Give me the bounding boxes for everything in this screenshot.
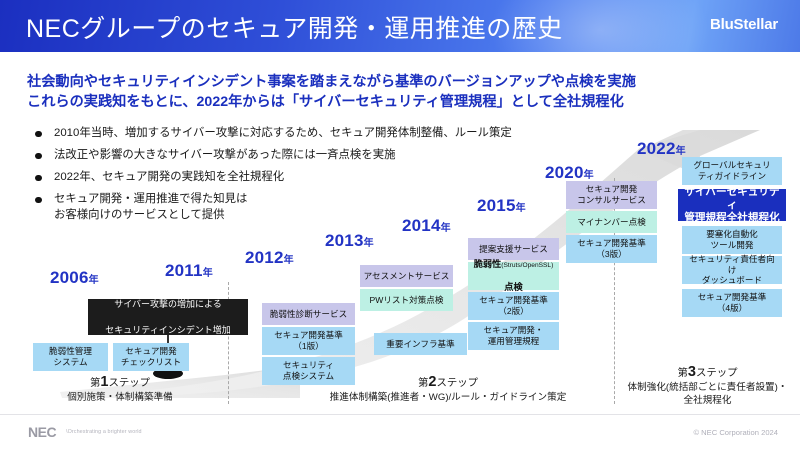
step-description: 推進体制構築(推進者・WG)/ルール・ガイドライン策定 <box>288 391 608 404</box>
item-secure-dev-std-v3[interactable]: セキュア開発基準 （3版） <box>566 235 657 263</box>
year-label-2014: 2014年 <box>402 216 451 236</box>
item-secure-dev-std-v1[interactable]: セキュア開発基準 （1版） <box>262 327 355 355</box>
year-suffix: 年 <box>584 170 594 181</box>
year-value: 2012 <box>245 248 284 267</box>
step-suffix: ステップ <box>696 368 738 379</box>
step-prefix: 第 <box>418 378 428 389</box>
step-number: 3 <box>688 364 696 380</box>
year-suffix: 年 <box>203 268 213 279</box>
step-label-1: 第1ステップ 個別施策・体制構築準備 <box>20 375 220 404</box>
page-title: NECグループのセキュア開発・運用推進の歴史 <box>26 9 563 45</box>
year-suffix: 年 <box>89 275 99 286</box>
year-label-2012: 2012年 <box>245 248 294 268</box>
brand-logo-blustellar: BluStellar <box>710 16 778 33</box>
item-pw-list-check[interactable]: PWリスト対策点検 <box>360 289 453 311</box>
slide-root: NECグループのセキュア開発・運用推進の歴史 BluStellar 社会動向やセ… <box>0 0 800 450</box>
year-value: 2020 <box>545 163 584 182</box>
footer-divider <box>0 414 800 415</box>
year-label-2013: 2013年 <box>325 231 374 251</box>
item-secure-dev-checklist[interactable]: セキュア開発 チェックリスト <box>113 343 189 371</box>
year-label-2011: 2011年 <box>165 261 213 281</box>
item-hardening-auto-tool[interactable]: 要塞化自動化 ツール開発 <box>682 226 782 254</box>
year-value: 2013 <box>325 231 364 250</box>
item-vuln-diag-service[interactable]: 脆弱性診断サービス <box>262 303 355 325</box>
copyright-notice: © NEC Corporation 2024 <box>693 428 778 437</box>
year-value: 2022 <box>637 139 676 158</box>
step-label-2: 第2ステップ 推進体制構築(推進者・WG)/ルール・ガイドライン策定 <box>288 375 608 404</box>
item-assessment-service[interactable]: アセスメントサービス <box>360 265 453 287</box>
year-suffix: 年 <box>284 255 294 266</box>
step-title: 第3ステップ <box>620 365 795 381</box>
year-suffix: 年 <box>516 203 526 214</box>
nec-tagline: \Orchestrating a brighter world <box>66 429 142 435</box>
step-description: 個別施策・体制構築準備 <box>20 391 220 404</box>
year-label-2022: 2022年 <box>637 139 686 159</box>
step-prefix: 第 <box>677 368 687 379</box>
year-suffix: 年 <box>441 223 451 234</box>
year-label-2020: 2020年 <box>545 163 594 183</box>
callout-cyber-attack-increase: サイバー攻撃の増加による セキュリティインシデント増加 <box>88 299 248 335</box>
callout-line-1: サイバー攻撃の増加による <box>105 298 230 311</box>
slide-header: NECグループのセキュア開発・運用推進の歴史 BluStellar <box>0 0 800 52</box>
nec-logo: NEC <box>28 424 56 440</box>
item-secure-dev-ops-rules[interactable]: セキュア開発・ 運用管理規程 <box>468 322 559 350</box>
year-suffix: 年 <box>676 146 686 157</box>
lead-text: 社会動向やセキュリティインシデント事案を踏まえながら基準のバージョンアップや点検… <box>27 72 767 112</box>
year-label-2006: 2006年 <box>50 268 99 288</box>
item-secure-dev-std-v2[interactable]: セキュア開発基準 （2版） <box>468 292 559 320</box>
item-critical-infra-std[interactable]: 重要インフラ基準 <box>374 333 467 355</box>
step-description-line2: 全社規程化 <box>620 394 795 407</box>
item-security-owner-dashboard[interactable]: セキュリティ責任者向け ダッシュボード <box>682 256 782 284</box>
year-label-2015: 2015年 <box>477 196 526 216</box>
year-value: 2015 <box>477 196 516 215</box>
item-global-security-guide[interactable]: グローバルセキュリ ティガイドライン <box>682 157 782 185</box>
year-value: 2011 <box>165 261 203 280</box>
step-title: 第1ステップ <box>20 375 220 391</box>
item-vuln-struts-openssl[interactable]: 脆弱性(Struts/OpenSSL) 点検 <box>468 262 559 290</box>
item-secure-dev-std-v4[interactable]: セキュア開発基準 （4版） <box>682 289 782 317</box>
step-suffix: ステップ <box>108 378 150 389</box>
item-secure-dev-consulting[interactable]: セキュア開発 コンサルサービス <box>566 181 657 209</box>
item-cyber-security-rules[interactable]: サイバーセキュリティ 管理規程全社規程化 <box>678 189 786 221</box>
step-suffix: ステップ <box>436 378 478 389</box>
step-description-line1: 体制強化(統括部ごとに責任者設置)・ <box>620 381 795 394</box>
year-value: 2006 <box>50 268 89 287</box>
lead-line-1: 社会動向やセキュリティインシデント事案を踏まえながら基準のバージョンアップや点検… <box>27 72 767 92</box>
step-label-3: 第3ステップ 体制強化(統括部ごとに責任者設置)・ 全社規程化 <box>620 365 795 407</box>
item-vuln-mgmt-system[interactable]: 脆弱性管理 システム <box>33 343 108 371</box>
item-my-number-check[interactable]: マイナンバー点検 <box>566 211 657 233</box>
year-suffix: 年 <box>364 238 374 249</box>
step-prefix: 第 <box>90 378 100 389</box>
year-value: 2014 <box>402 216 441 235</box>
lead-line-2: これらの実践知をもとに、2022年からは「サイバーセキュリティ管理規程」として全… <box>27 92 767 112</box>
step-title: 第2ステップ <box>288 375 608 391</box>
